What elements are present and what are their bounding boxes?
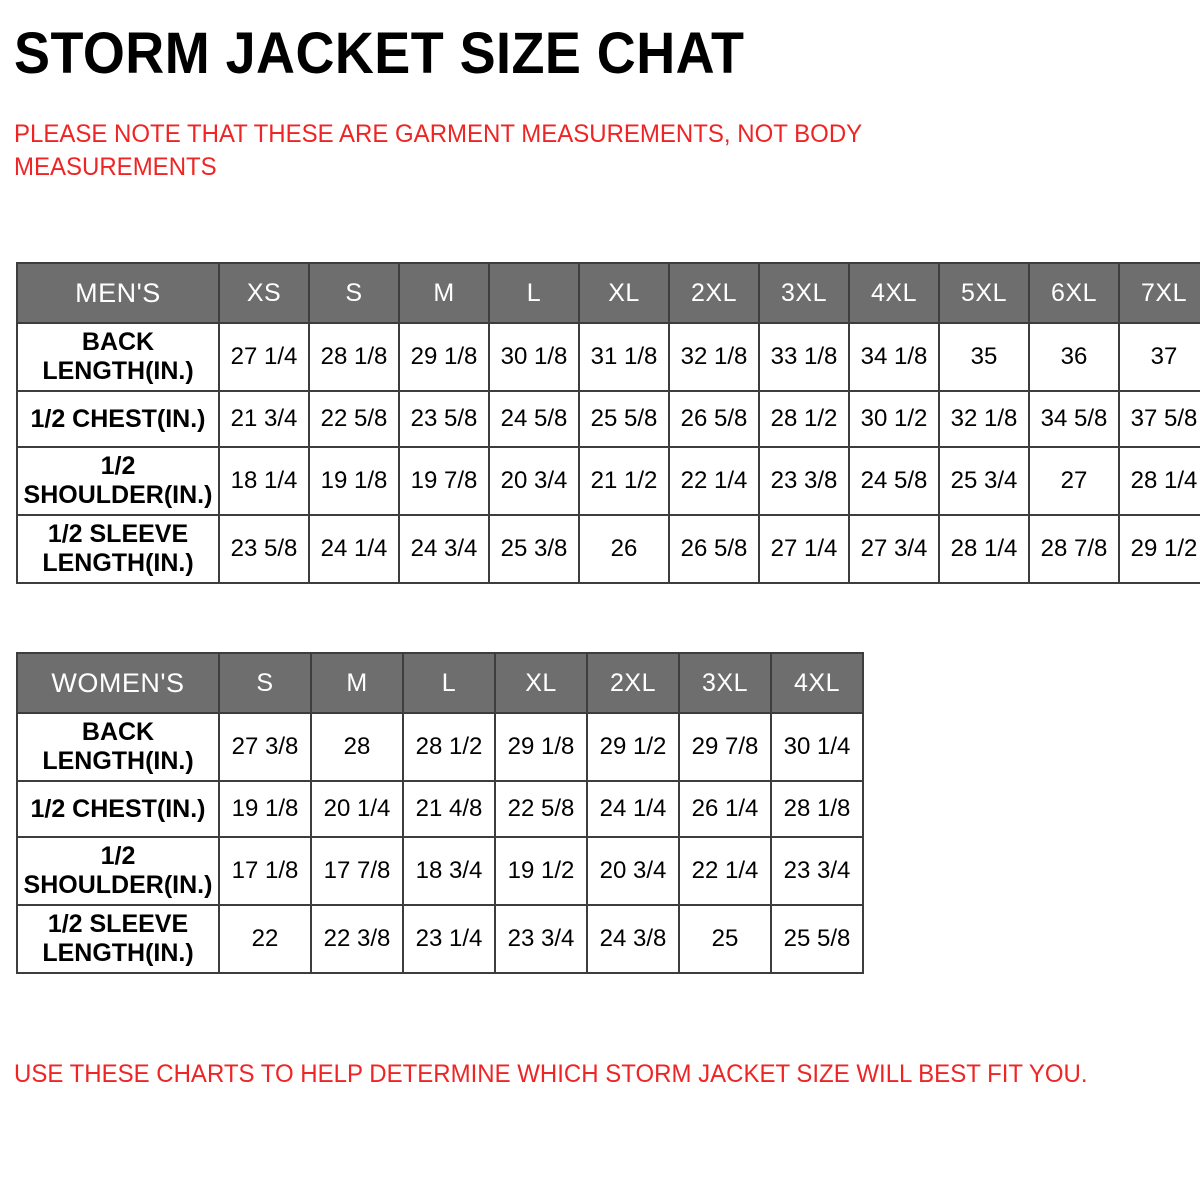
measurement-cell: 17 7/8 (311, 837, 403, 905)
measurement-cell: 34 1/8 (849, 323, 939, 391)
measurement-cell: 23 3/4 (495, 905, 587, 973)
measurement-cell: 28 1/2 (403, 713, 495, 781)
womens-row-label: 1/2 SLEEVE LENGTH(IN.) (17, 905, 219, 973)
measurement-cell: 25 5/8 (771, 905, 863, 973)
mens-header-row: MEN'SXSSMLXL2XL3XL4XL5XL6XL7XL (17, 263, 1200, 323)
womens-row-label: BACK LENGTH(IN.) (17, 713, 219, 781)
measurement-cell: 22 3/8 (311, 905, 403, 973)
measurement-cell: 34 5/8 (1029, 391, 1119, 447)
measurement-cell: 25 3/8 (489, 515, 579, 583)
mens-table-body: BACK LENGTH(IN.)27 1/428 1/829 1/830 1/8… (17, 323, 1200, 583)
measurement-cell: 22 5/8 (309, 391, 399, 447)
measurement-cell: 23 5/8 (399, 391, 489, 447)
measurement-cell: 19 1/2 (495, 837, 587, 905)
mens-row-label: 1/2 SHOULDER(IN.) (17, 447, 219, 515)
measurement-cell: 22 1/4 (669, 447, 759, 515)
measurement-cell: 17 1/8 (219, 837, 311, 905)
measurement-cell: 24 3/8 (587, 905, 679, 973)
measurement-cell: 35 (939, 323, 1029, 391)
mens-row-label: 1/2 SLEEVE LENGTH(IN.) (17, 515, 219, 583)
measurement-cell: 25 5/8 (579, 391, 669, 447)
mens-column-header-3xl: 3XL (759, 263, 849, 323)
womens-header-row: WOMEN'SSMLXL2XL3XL4XL (17, 653, 863, 713)
womens-row-label: 1/2 CHEST(IN.) (17, 781, 219, 837)
measurement-cell: 31 1/8 (579, 323, 669, 391)
measurement-cell: 30 1/2 (849, 391, 939, 447)
table-row: BACK LENGTH(IN.)27 3/82828 1/229 1/829 1… (17, 713, 863, 781)
measurement-cell: 24 1/4 (309, 515, 399, 583)
measurement-cell: 28 7/8 (1029, 515, 1119, 583)
measurement-cell: 20 1/4 (311, 781, 403, 837)
measurement-cell: 29 1/8 (495, 713, 587, 781)
measurement-cell: 27 3/4 (849, 515, 939, 583)
womens-row-label: 1/2 SHOULDER(IN.) (17, 837, 219, 905)
garment-measurement-note: PLEASE NOTE THAT THESE ARE GARMENT MEASU… (14, 118, 936, 184)
measurement-cell: 26 5/8 (669, 515, 759, 583)
womens-column-header-m: M (311, 653, 403, 713)
mens-corner-header: MEN'S (17, 263, 219, 323)
measurement-cell: 24 5/8 (849, 447, 939, 515)
mens-column-header-2xl: 2XL (669, 263, 759, 323)
womens-column-header-3xl: 3XL (679, 653, 771, 713)
table-row: BACK LENGTH(IN.)27 1/428 1/829 1/830 1/8… (17, 323, 1200, 391)
measurement-cell: 32 1/8 (669, 323, 759, 391)
womens-corner-header: WOMEN'S (17, 653, 219, 713)
measurement-cell: 19 7/8 (399, 447, 489, 515)
measurement-cell: 21 1/2 (579, 447, 669, 515)
womens-table-body: BACK LENGTH(IN.)27 3/82828 1/229 1/829 1… (17, 713, 863, 973)
measurement-cell: 19 1/8 (309, 447, 399, 515)
measurement-cell: 24 1/4 (587, 781, 679, 837)
womens-column-header-2xl: 2XL (587, 653, 679, 713)
measurement-cell: 18 1/4 (219, 447, 309, 515)
table-row: 1/2 CHEST(IN.)21 3/422 5/823 5/824 5/825… (17, 391, 1200, 447)
womens-table-header: WOMEN'SSMLXL2XL3XL4XL (17, 653, 863, 713)
mens-column-header-xl: XL (579, 263, 669, 323)
measurement-cell: 26 (579, 515, 669, 583)
measurement-cell: 28 1/2 (759, 391, 849, 447)
measurement-cell: 26 5/8 (669, 391, 759, 447)
measurement-cell: 29 1/2 (1119, 515, 1200, 583)
womens-column-header-4xl: 4XL (771, 653, 863, 713)
measurement-cell: 21 3/4 (219, 391, 309, 447)
page-title: STORM JACKET SIZE CHAT (14, 22, 744, 86)
measurement-cell: 18 3/4 (403, 837, 495, 905)
measurement-cell: 23 5/8 (219, 515, 309, 583)
measurement-cell: 20 3/4 (587, 837, 679, 905)
measurement-cell: 23 3/4 (771, 837, 863, 905)
mens-column-header-4xl: 4XL (849, 263, 939, 323)
table-row: 1/2 SLEEVE LENGTH(IN.)23 5/824 1/424 3/4… (17, 515, 1200, 583)
table-row: 1/2 CHEST(IN.)19 1/820 1/421 4/822 5/824… (17, 781, 863, 837)
womens-column-header-l: L (403, 653, 495, 713)
measurement-cell: 25 3/4 (939, 447, 1029, 515)
measurement-cell: 28 1/4 (939, 515, 1029, 583)
measurement-cell: 33 1/8 (759, 323, 849, 391)
mens-row-label: BACK LENGTH(IN.) (17, 323, 219, 391)
measurement-cell: 28 1/8 (771, 781, 863, 837)
measurement-cell: 28 1/8 (309, 323, 399, 391)
womens-size-table: WOMEN'SSMLXL2XL3XL4XL BACK LENGTH(IN.)27… (16, 652, 864, 974)
mens-column-header-m: M (399, 263, 489, 323)
measurement-cell: 20 3/4 (489, 447, 579, 515)
mens-size-table: MEN'SXSSMLXL2XL3XL4XL5XL6XL7XL BACK LENG… (16, 262, 1200, 584)
measurement-cell: 23 1/4 (403, 905, 495, 973)
mens-column-header-6xl: 6XL (1029, 263, 1119, 323)
table-row: 1/2 SHOULDER(IN.)18 1/419 1/819 7/820 3/… (17, 447, 1200, 515)
measurement-cell: 21 4/8 (403, 781, 495, 837)
measurement-cell: 22 (219, 905, 311, 973)
measurement-cell: 19 1/8 (219, 781, 311, 837)
mens-table-header: MEN'SXSSMLXL2XL3XL4XL5XL6XL7XL (17, 263, 1200, 323)
measurement-cell: 22 1/4 (679, 837, 771, 905)
use-charts-note: USE THESE CHARTS TO HELP DETERMINE WHICH… (14, 1058, 1128, 1090)
measurement-cell: 22 5/8 (495, 781, 587, 837)
mens-column-header-s: S (309, 263, 399, 323)
measurement-cell: 29 7/8 (679, 713, 771, 781)
womens-column-header-s: S (219, 653, 311, 713)
measurement-cell: 36 (1029, 323, 1119, 391)
measurement-cell: 25 (679, 905, 771, 973)
mens-row-label: 1/2 CHEST(IN.) (17, 391, 219, 447)
measurement-cell: 28 (311, 713, 403, 781)
measurement-cell: 37 5/8 (1119, 391, 1200, 447)
measurement-cell: 26 1/4 (679, 781, 771, 837)
measurement-cell: 24 3/4 (399, 515, 489, 583)
measurement-cell: 37 (1119, 323, 1200, 391)
mens-column-header-7xl: 7XL (1119, 263, 1200, 323)
table-row: 1/2 SHOULDER(IN.)17 1/817 7/818 3/419 1/… (17, 837, 863, 905)
measurement-cell: 27 1/4 (219, 323, 309, 391)
mens-column-header-5xl: 5XL (939, 263, 1029, 323)
measurement-cell: 32 1/8 (939, 391, 1029, 447)
measurement-cell: 29 1/8 (399, 323, 489, 391)
womens-column-header-xl: XL (495, 653, 587, 713)
mens-column-header-l: L (489, 263, 579, 323)
measurement-cell: 23 3/8 (759, 447, 849, 515)
measurement-cell: 24 5/8 (489, 391, 579, 447)
measurement-cell: 27 (1029, 447, 1119, 515)
measurement-cell: 28 1/4 (1119, 447, 1200, 515)
size-chart-page: STORM JACKET SIZE CHAT PLEASE NOTE THAT … (0, 0, 1200, 1200)
measurement-cell: 29 1/2 (587, 713, 679, 781)
measurement-cell: 27 3/8 (219, 713, 311, 781)
measurement-cell: 27 1/4 (759, 515, 849, 583)
table-row: 1/2 SLEEVE LENGTH(IN.)2222 3/823 1/423 3… (17, 905, 863, 973)
measurement-cell: 30 1/4 (771, 713, 863, 781)
mens-column-header-xs: XS (219, 263, 309, 323)
measurement-cell: 30 1/8 (489, 323, 579, 391)
